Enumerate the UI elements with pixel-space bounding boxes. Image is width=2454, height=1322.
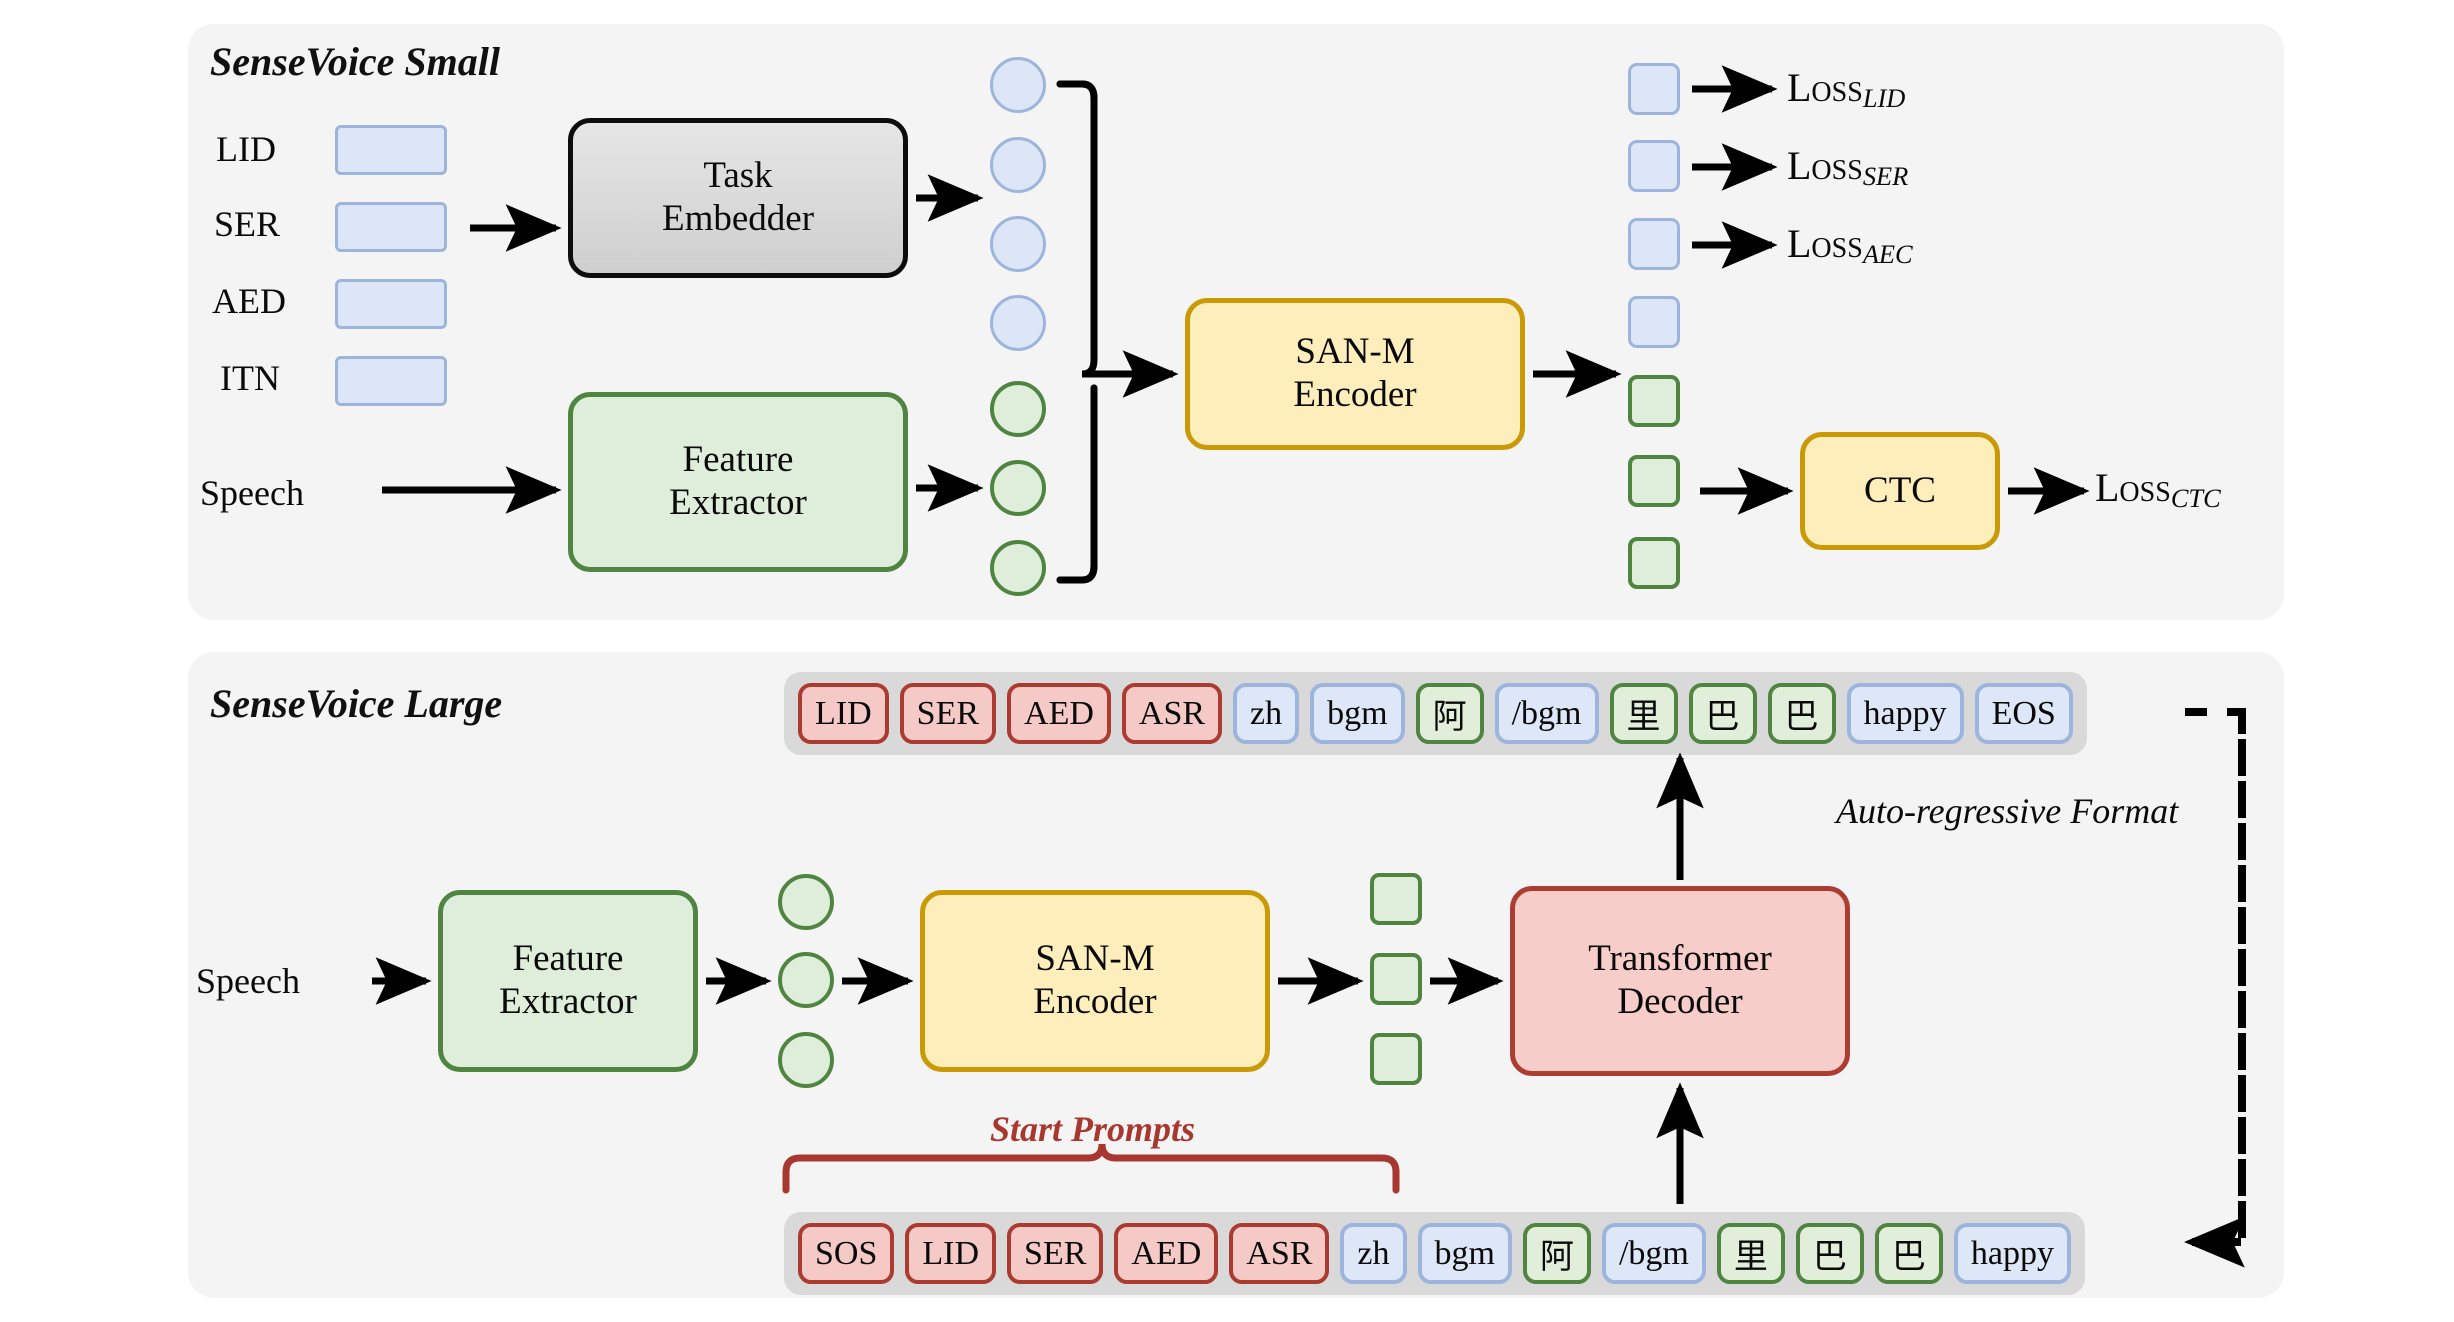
block-transformer-decoder-line2: Decoder	[1617, 981, 1742, 1024]
encoder-output-large-1	[1370, 873, 1422, 925]
loss-ser-base: Loss	[1787, 143, 1863, 188]
input-label-speech: Speech	[200, 472, 304, 514]
loss-label-ctc: LossCTC	[2095, 464, 2221, 514]
output-token-4: zh	[1233, 683, 1299, 744]
block-task-embedder-line2: Embedder	[662, 198, 814, 241]
loss-aec-sub: AEC	[1863, 239, 1913, 269]
input-token-strip: SOSLIDSERAEDASRzhbgm阿/bgm里巴巴happy	[784, 1212, 2085, 1295]
loss-label-aec: LossAEC	[1787, 220, 1913, 270]
input-label-speech-large: Speech	[196, 960, 300, 1002]
input-token-3: AED	[1114, 1223, 1218, 1284]
block-feature-extractor-large: Feature Extractor	[438, 890, 698, 1072]
input-token-11: 巴	[1875, 1223, 1943, 1284]
loss-aec-base: Loss	[1787, 221, 1863, 266]
input-token-8: /bgm	[1602, 1223, 1706, 1284]
block-task-embedder-line1: Task	[703, 155, 772, 198]
panel-title-sensevoice-large: SenseVoice Large	[210, 680, 502, 727]
loss-lid-sub: LID	[1863, 83, 1906, 113]
output-token-1: SER	[900, 683, 996, 744]
block-sanm-encoder-large-line2: Encoder	[1033, 981, 1156, 1024]
block-sanm-encoder-large: SAN-M Encoder	[920, 890, 1270, 1072]
embedding-circle-blue-3	[990, 216, 1046, 272]
loss-label-lid: LossLID	[1787, 64, 1905, 114]
task-embedding-rect-itn	[335, 356, 447, 406]
block-feature-extractor-large-line1: Feature	[513, 938, 624, 981]
loss-ser-sub: SER	[1863, 161, 1908, 191]
encoder-output-square-green-1	[1628, 375, 1680, 427]
input-token-7: 阿	[1523, 1223, 1591, 1284]
output-token-0: LID	[798, 683, 889, 744]
encoder-output-square-green-2	[1628, 455, 1680, 507]
input-token-9: 里	[1717, 1223, 1785, 1284]
loss-lid-base: Loss	[1787, 65, 1863, 110]
output-token-2: AED	[1007, 683, 1111, 744]
encoder-output-square-blue-2	[1628, 140, 1680, 192]
loss-ctc-base: Loss	[2095, 465, 2171, 510]
input-token-2: SER	[1007, 1223, 1103, 1284]
input-token-12: happy	[1954, 1223, 2071, 1284]
block-feature-extractor-small-line2: Extractor	[669, 482, 807, 525]
output-token-11: happy	[1847, 683, 1964, 744]
feature-circle-green-2	[990, 460, 1046, 516]
embedding-circle-blue-4	[990, 295, 1046, 351]
output-token-8: 里	[1610, 683, 1678, 744]
input-label-itn: ITN	[220, 357, 280, 399]
panel-title-sensevoice-small: SenseVoice Small	[210, 38, 500, 85]
caption-start-prompts: Start Prompts	[990, 1108, 1195, 1150]
loss-ctc-sub: CTC	[2171, 483, 2221, 513]
block-feature-extractor-large-line2: Extractor	[499, 981, 637, 1024]
encoder-output-square-blue-4	[1628, 296, 1680, 348]
task-embedding-rect-ser	[335, 202, 447, 252]
output-token-3: ASR	[1122, 683, 1222, 744]
block-transformer-decoder-line1: Transformer	[1588, 938, 1772, 981]
feature-circle-green-1	[990, 381, 1046, 437]
input-token-6: bgm	[1418, 1223, 1512, 1284]
block-feature-extractor-small: Feature Extractor	[568, 392, 908, 572]
embedding-circle-blue-2	[990, 137, 1046, 193]
output-token-7: /bgm	[1495, 683, 1599, 744]
block-ctc: CTC	[1800, 432, 2000, 550]
input-token-10: 巴	[1796, 1223, 1864, 1284]
encoder-output-large-2	[1370, 953, 1422, 1005]
block-sanm-encoder-small-line1: SAN-M	[1295, 331, 1414, 374]
encoder-output-square-blue-1	[1628, 63, 1680, 115]
input-label-ser: SER	[214, 203, 280, 245]
encoder-output-large-3	[1370, 1033, 1422, 1085]
input-token-0: SOS	[798, 1223, 894, 1284]
input-token-4: ASR	[1229, 1223, 1329, 1284]
caption-auto-regressive-format: Auto-regressive Format	[1836, 790, 2178, 832]
output-token-12: EOS	[1975, 683, 2073, 744]
input-label-aed: AED	[212, 280, 286, 322]
block-sanm-encoder-small: SAN-M Encoder	[1185, 298, 1525, 450]
output-token-9: 巴	[1689, 683, 1757, 744]
feature-circle-large-3	[778, 1032, 834, 1088]
block-ctc-label: CTC	[1864, 470, 1936, 513]
block-task-embedder: Task Embedder	[568, 118, 908, 278]
input-label-lid: LID	[216, 128, 276, 170]
encoder-output-square-blue-3	[1628, 218, 1680, 270]
block-sanm-encoder-small-line2: Encoder	[1293, 374, 1416, 417]
output-token-6: 阿	[1416, 683, 1484, 744]
input-token-5: zh	[1340, 1223, 1406, 1284]
block-sanm-encoder-large-line1: SAN-M	[1035, 938, 1154, 981]
feature-circle-large-1	[778, 874, 834, 930]
feature-circle-large-2	[778, 952, 834, 1008]
block-feature-extractor-small-line1: Feature	[683, 439, 794, 482]
block-transformer-decoder: Transformer Decoder	[1510, 886, 1850, 1076]
input-token-1: LID	[905, 1223, 996, 1284]
output-token-10: 巴	[1768, 683, 1836, 744]
output-token-5: bgm	[1310, 683, 1404, 744]
loss-label-ser: LossSER	[1787, 142, 1908, 192]
task-embedding-rect-lid	[335, 125, 447, 175]
encoder-output-square-green-3	[1628, 537, 1680, 589]
feature-circle-green-3	[990, 540, 1046, 596]
output-token-strip: LIDSERAEDASRzhbgm阿/bgm里巴巴happyEOS	[784, 672, 2087, 755]
embedding-circle-blue-1	[990, 57, 1046, 113]
task-embedding-rect-aed	[335, 279, 447, 329]
